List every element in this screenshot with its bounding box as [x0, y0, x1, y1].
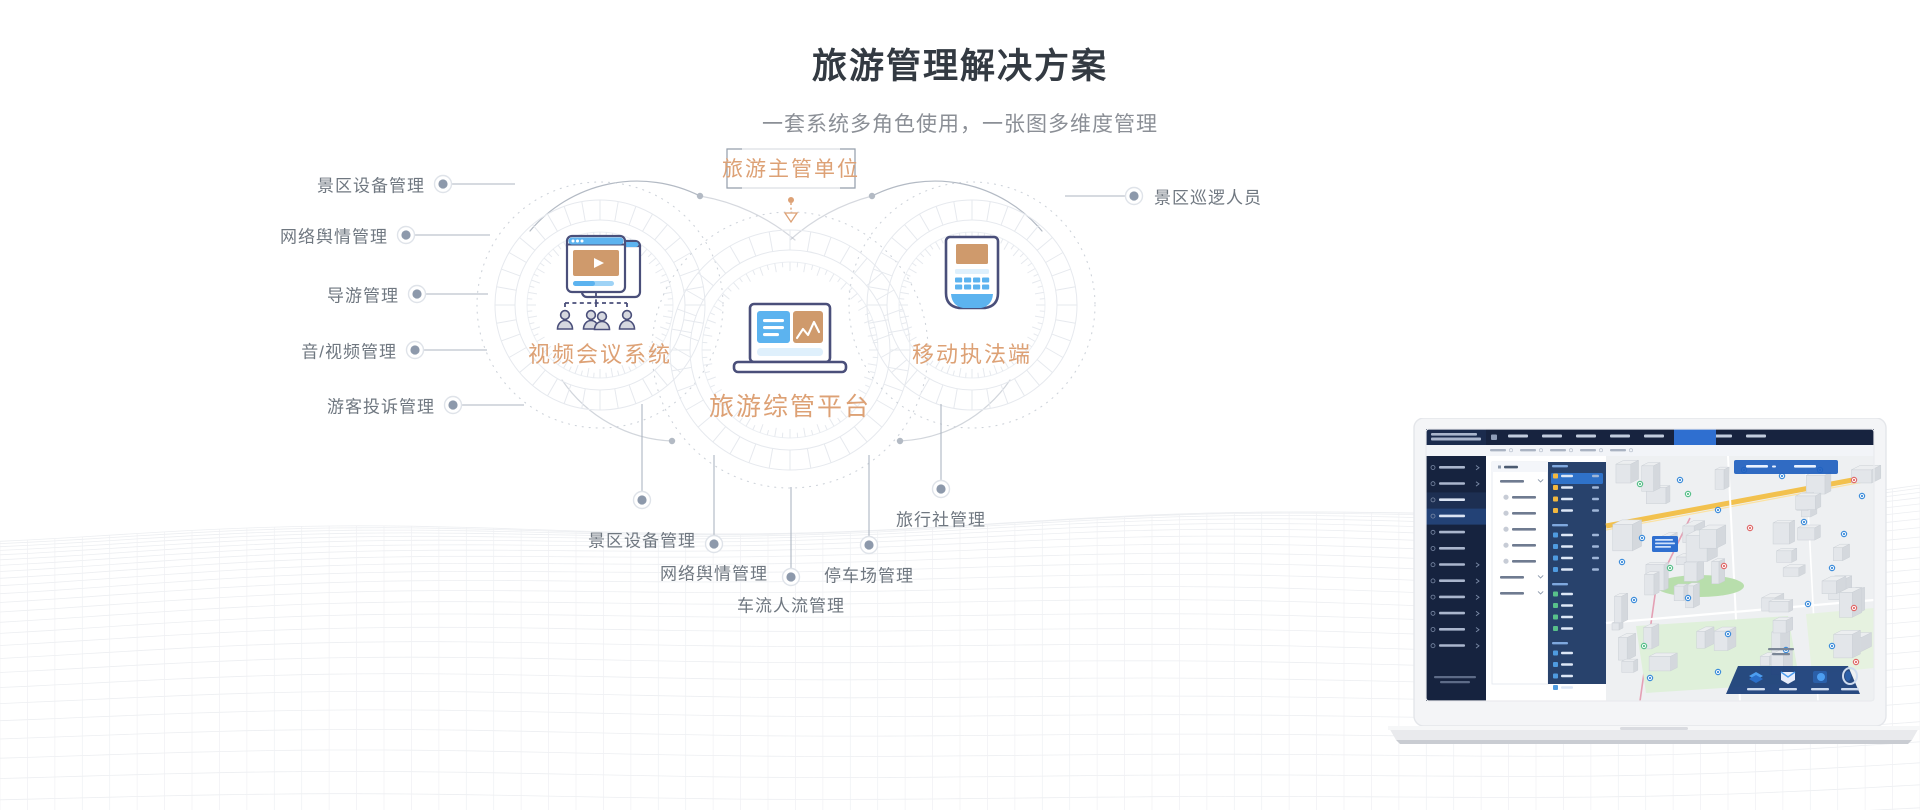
connector-dot — [783, 569, 800, 586]
diagram-label-bottom-1: 网络舆情管理 — [660, 560, 768, 585]
diagram-label-bottom-2: 车流人流管理 — [737, 592, 845, 617]
diagram-label-left-1: 网络舆情管理 — [280, 223, 388, 248]
connector-dot — [407, 342, 424, 359]
header: 旅游管理解决方案 一套系统多角色使用，一张图多维度管理 — [0, 0, 1920, 138]
connector-dot — [398, 227, 415, 244]
ring-label-video-conference: 视频会议系统 — [528, 337, 672, 369]
mobile-device-icon — [946, 237, 998, 308]
diagram-label-bottom-4: 旅行社管理 — [896, 506, 986, 531]
laptop-mockup — [1388, 418, 1920, 810]
ring-label-tourism-platform: 旅游综管平台 — [709, 387, 871, 423]
diagram-label-left-0: 景区设备管理 — [317, 172, 425, 197]
connector-dot — [1126, 188, 1143, 205]
diagram-label-left-2: 导游管理 — [327, 282, 399, 307]
laptop-dashboard-icon — [734, 304, 846, 372]
badge-arrow-icon — [785, 197, 797, 222]
connector-dot — [861, 537, 878, 554]
diagram-label-right-0: 景区巡逻人员 — [1154, 184, 1262, 209]
mockup-screen-content — [1426, 429, 1881, 701]
connector-dot — [409, 286, 426, 303]
connector-dot — [634, 492, 651, 509]
diagram-label-bottom-0: 景区设备管理 — [588, 527, 696, 552]
diagram-label-bottom-3: 停车场管理 — [824, 562, 914, 587]
ring-label-mobile-enforcement: 移动执法端 — [912, 337, 1032, 369]
page-title: 旅游管理解决方案 — [0, 0, 1920, 88]
connector-dot — [445, 397, 462, 414]
connector-dot — [706, 536, 723, 553]
connector-dot — [435, 176, 452, 193]
authority-badge[interactable]: 旅游主管单位 — [696, 141, 886, 195]
diagram-label-left-3: 音/视频管理 — [301, 338, 397, 363]
diagram-label-left-4: 游客投诉管理 — [327, 393, 435, 418]
page-root: 旅游管理解决方案 一套系统多角色使用，一张图多维度管理 — [0, 0, 1920, 810]
video-conference-icon — [558, 236, 641, 330]
ring-video-conference — [477, 182, 723, 428]
connector-dot — [933, 481, 950, 498]
page-subtitle: 一套系统多角色使用，一张图多维度管理 — [0, 88, 1920, 138]
